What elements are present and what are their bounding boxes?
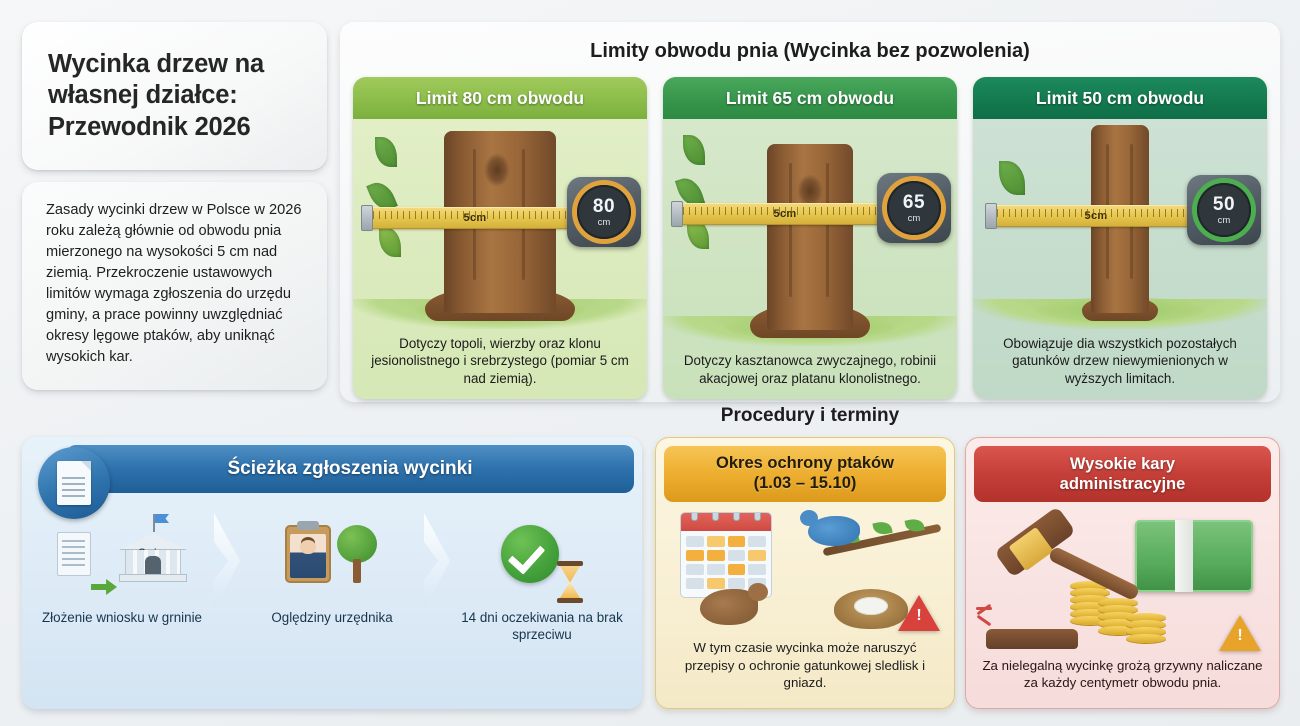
gavel-base-icon xyxy=(986,629,1078,649)
penalties-heading-line2: administracyjne xyxy=(1060,474,1186,494)
application-document-icon xyxy=(57,532,91,576)
tape-hook-icon xyxy=(361,205,373,231)
trunk-knot xyxy=(484,153,510,187)
bird-heading-line1: Okres ochrony ptaków xyxy=(716,454,894,474)
penalties-caption: Za nielegalną wycinkę grożą grzywny nali… xyxy=(974,657,1271,700)
bird-protection-heading: Okres ochrony ptaków (1.03 – 15.10) xyxy=(664,446,946,502)
bird-protection-panel: Okres ochrony ptaków (1.03 – 15.10) xyxy=(655,437,955,709)
tape-hook-icon xyxy=(985,203,997,229)
measure-unit: cm xyxy=(908,213,921,224)
warning-triangle-icon: ! xyxy=(898,595,940,631)
measuring-tape: 5cm xyxy=(677,203,893,225)
bird-heading-line2: (1.03 – 15.10) xyxy=(754,474,857,494)
penalties-heading: Wysokie kary administracyjne xyxy=(974,446,1271,502)
arrow-right-icon xyxy=(91,577,117,597)
step-art: Gmina xyxy=(57,505,187,603)
submission-steps: Gmina Złożenie wniosku w grninie xyxy=(30,505,634,655)
measure-display: 50 cm xyxy=(1197,183,1251,237)
bird-illustration: ! xyxy=(664,502,946,639)
measure-value: 80 xyxy=(593,197,615,216)
leaf-icon xyxy=(999,161,1025,195)
measure-value: 50 xyxy=(1213,195,1235,214)
nest-with-eggs-icon xyxy=(834,589,908,629)
measuring-tape: 5cm xyxy=(991,205,1201,227)
step-label: 14 dni oczekiwania na brak sprzeciwu xyxy=(450,609,634,644)
tape-measure-reel: 80 cm xyxy=(567,177,641,247)
leaf-icon xyxy=(379,227,401,257)
limit-card-caption: Dotyczy kasztanowca zwyczajnego, robinii… xyxy=(663,346,957,399)
chevron-right-icon xyxy=(424,513,450,609)
measure-unit: cm xyxy=(1218,215,1231,226)
submission-path-heading: Ścieżka zgłoszenia wycinki xyxy=(66,445,634,493)
limit-card-80[interactable]: Limit 80 cm obwodu 5cm xyxy=(353,77,647,399)
step-official-inspection[interactable]: Oględziny urzędnika xyxy=(240,505,424,626)
brown-bird-icon xyxy=(700,589,758,625)
impact-lines-icon xyxy=(976,595,1002,621)
penalties-panel: Wysokie kary administracyjne ! Za ni xyxy=(965,437,1280,709)
tape-measure-reel: 65 cm xyxy=(877,173,951,243)
tape-ticks xyxy=(991,209,1201,217)
document-lines xyxy=(62,477,85,497)
tape-ticks xyxy=(677,207,893,215)
measure-unit: cm xyxy=(598,217,611,228)
checkmark-icon xyxy=(501,525,559,583)
official-badge-icon xyxy=(285,525,331,583)
blue-bird-icon xyxy=(808,516,860,546)
submission-path-panel: Ścieżka zgłoszenia wycinki Gmina Złożeni xyxy=(22,437,642,709)
tree-trunk xyxy=(767,144,853,330)
page-title: Wycinka drzew na własnej działce: Przewo… xyxy=(48,49,301,142)
leaf-icon xyxy=(375,137,397,167)
procedures-section-title: Procedury i terminy xyxy=(340,405,1280,427)
limit-card-heading: Limit 80 cm obwodu xyxy=(353,77,647,119)
step-art xyxy=(501,505,583,603)
document-badge-icon xyxy=(38,447,110,519)
measure-display: 80 cm xyxy=(577,185,631,239)
tape-measure-reel: 50 cm xyxy=(1187,175,1261,245)
tree-illustration-65: 5cm 65 cm xyxy=(663,119,957,346)
bird-protection-caption: W tym czasie wycinka może naruszyć przep… xyxy=(664,639,946,700)
warning-symbol: ! xyxy=(916,608,922,624)
document-icon xyxy=(57,461,91,505)
infographic-page: Wycinka drzew na własnej działce: Przewo… xyxy=(0,0,1300,726)
warning-symbol: ! xyxy=(1237,628,1243,644)
measuring-tape: 5cm xyxy=(367,207,583,229)
limit-cards-row: Limit 80 cm obwodu 5cm xyxy=(340,63,1280,399)
limit-card-65[interactable]: Limit 65 cm obwodu 5cm xyxy=(663,77,957,399)
title-card: Wycinka drzew na własnej działce: Przewo… xyxy=(22,22,327,170)
step-art xyxy=(285,505,379,603)
limit-card-caption: Obowiązuje dia wszystkich pozostałych ga… xyxy=(973,329,1267,399)
limit-card-50[interactable]: Limit 50 cm obwodu 5cm 50 xyxy=(973,77,1267,399)
municipality-building-icon: Gmina xyxy=(119,526,187,582)
limit-card-heading: Limit 50 cm obwodu xyxy=(973,77,1267,119)
tree-icon xyxy=(335,525,379,583)
warning-triangle-icon: ! xyxy=(1219,615,1261,651)
measure-display: 65 cm xyxy=(887,181,941,235)
step-waiting-period[interactable]: 14 dni oczekiwania na brak sprzeciwu xyxy=(450,505,634,644)
hourglass-icon xyxy=(557,561,583,603)
limit-card-caption: Dotyczy topoli, wierzby oraz klonu jesio… xyxy=(353,329,647,399)
limits-section-title: Limity obwodu pnia (Wycinka bez pozwolen… xyxy=(340,40,1280,63)
chevron-right-icon xyxy=(214,513,240,609)
tape-ticks xyxy=(367,211,583,219)
leaf-icon xyxy=(683,135,705,165)
calendar-rings xyxy=(691,512,761,521)
description-card: Zasady wycinki drzew w Polsce w 2026 rok… xyxy=(22,182,327,390)
limits-panel: Limity obwodu pnia (Wycinka bez pozwolen… xyxy=(340,22,1280,402)
tree-illustration-50: 5cm 50 cm xyxy=(973,119,1267,329)
penalties-illustration: ! xyxy=(974,502,1271,657)
step-label: Złożenie wniosku w grninie xyxy=(42,609,202,626)
limit-card-heading: Limit 65 cm obwodu xyxy=(663,77,957,119)
measure-value: 65 xyxy=(903,193,925,212)
tape-hook-icon xyxy=(671,201,683,227)
step-submit-application[interactable]: Gmina Złożenie wniosku w grninie xyxy=(30,505,214,626)
description-text: Zasady wycinki drzew w Polsce w 2026 rok… xyxy=(46,200,307,368)
penalties-heading-line1: Wysokie kary xyxy=(1070,454,1175,474)
tree-illustration-80: 5cm 80 cm xyxy=(353,119,647,329)
step-label: Oględziny urzędnika xyxy=(271,609,392,626)
flag-icon xyxy=(153,514,155,532)
